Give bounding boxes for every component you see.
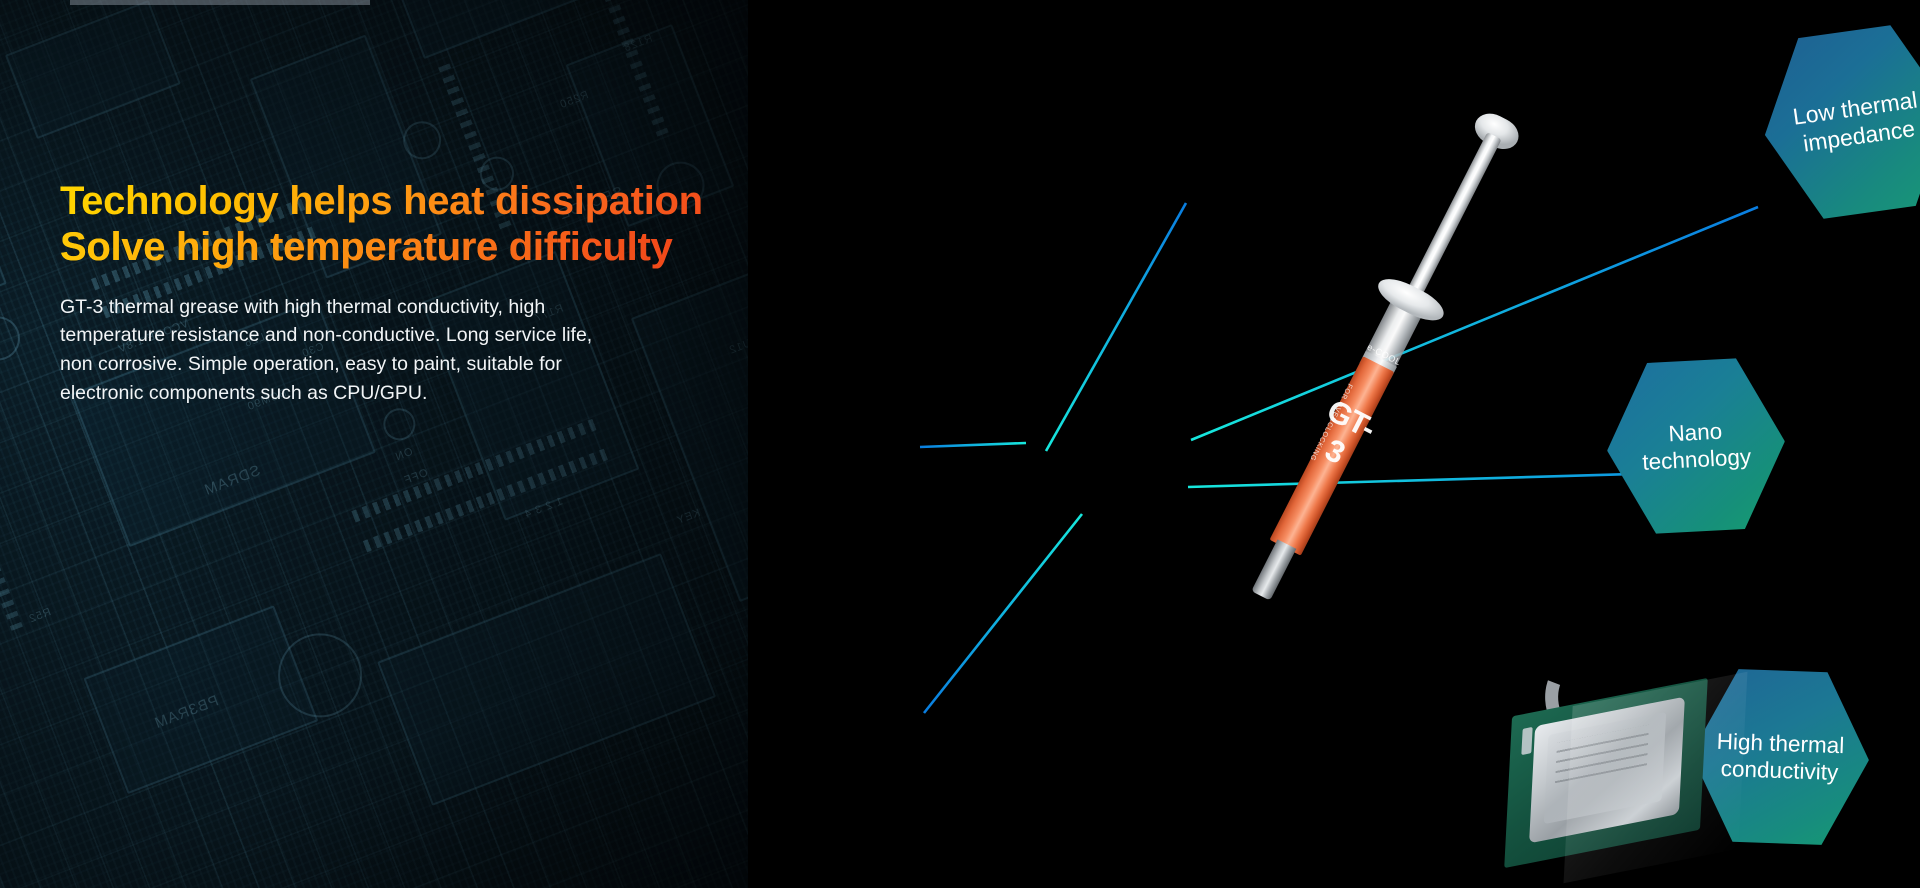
pcb-vignette <box>0 0 748 888</box>
body-paragraph: GT-3 thermal grease with high thermal co… <box>60 293 616 408</box>
page-title: Technology helps heat dissipationSolve h… <box>60 178 750 271</box>
cpu-orientation-notch <box>1521 727 1532 755</box>
headline-line-2: Solve high temperature difficulty <box>60 224 750 270</box>
connector-high-thermal-conductivity <box>924 514 1082 713</box>
cpu-glass-sheen <box>1564 672 1748 883</box>
circuit-board-artwork: FRONT USB SEC-IDE VCORE 1.8V R250 R128 P… <box>0 0 748 888</box>
feature-label: Low thermal impedance <box>1785 85 1920 160</box>
headline-line-1: Technology helps heat dissipation <box>60 179 703 223</box>
feature-label-line-2: technology <box>1642 443 1752 476</box>
feature-label: Nano technology <box>1634 415 1758 476</box>
connector-nano-technology <box>920 443 1026 447</box>
promo-banner: FRONT USB SEC-IDE VCORE 1.8V R250 R128 P… <box>0 0 1920 888</box>
cpu-chip <box>1498 690 1750 872</box>
copy-block: Technology helps heat dissipationSolve h… <box>60 178 750 407</box>
top-edge-highlight <box>70 0 370 5</box>
connector-low-thermal-impedance <box>1046 203 1186 451</box>
circuit-board-background: FRONT USB SEC-IDE VCORE 1.8V R250 R128 P… <box>0 0 748 888</box>
